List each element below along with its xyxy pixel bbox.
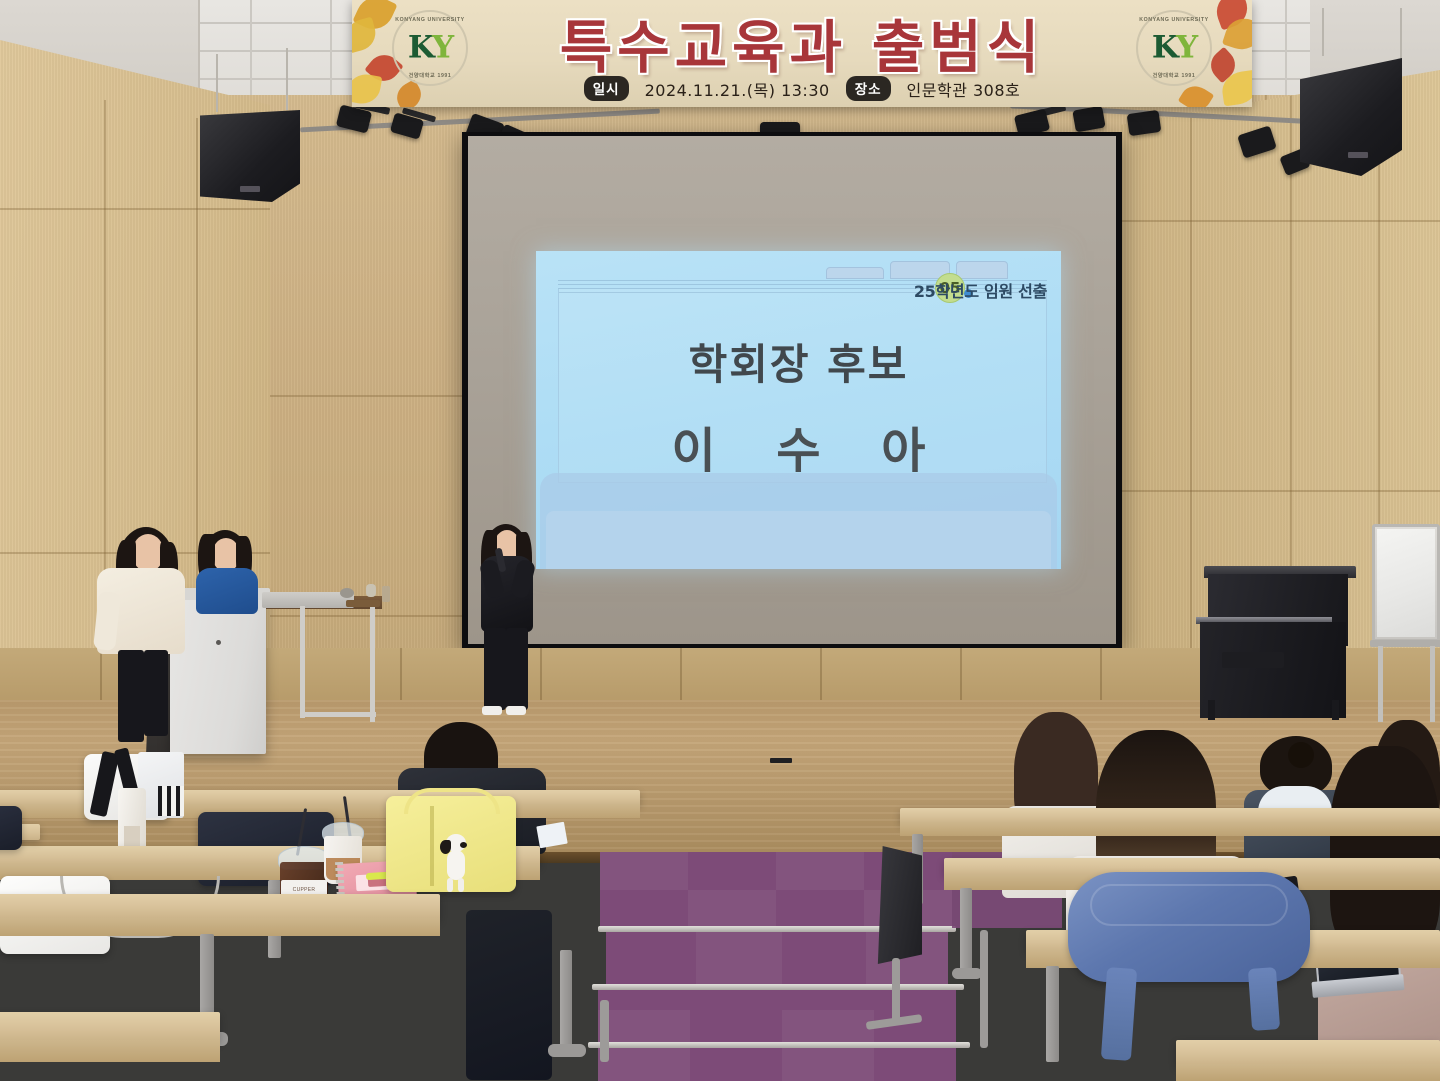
shoe [482, 706, 502, 715]
banner-title: 특수교육과 출범식 [352, 2, 1252, 84]
slide-section-title: 25학년도 임원 선출 [914, 278, 1047, 302]
speaker-badge [1348, 152, 1368, 158]
desk-left-bottom [0, 1012, 220, 1042]
banner-place-value: 인문학관 308호 [907, 77, 1021, 101]
upright-piano [1200, 622, 1346, 718]
stage-floor-socket [770, 758, 792, 763]
side-table-rail [300, 712, 376, 717]
bag-seam [430, 806, 434, 886]
slide-folder-tab [826, 267, 884, 279]
desk-left-front [0, 894, 440, 920]
shoe [506, 706, 526, 715]
aisle-carpet-lower [598, 990, 956, 1081]
stage-light [1127, 110, 1162, 136]
slide-folder-pocket-front [546, 511, 1051, 569]
projection-screen: 05 25학년도 임원 선출 학회장 후보 이 수 아 [462, 132, 1122, 650]
desk-front-panel [1176, 1064, 1440, 1081]
table-item-trophy [382, 586, 390, 602]
speaker-badge [240, 186, 260, 192]
banner-date-value: 2024.11.21.(목) 13:30 [645, 77, 830, 101]
table-item-award [366, 584, 376, 597]
chair-post [600, 1000, 609, 1062]
backpack-strap [1248, 967, 1280, 1031]
leg [506, 628, 528, 710]
banner-place-label: 장소 [846, 76, 891, 101]
leg [118, 650, 144, 742]
piano-bench [1222, 652, 1284, 668]
presentation-slide: 05 25학년도 임원 선출 학회장 후보 이 수 아 [536, 251, 1061, 569]
slide-role-title: 학회장 후보 [536, 331, 1061, 392]
speaker-wire [1400, 8, 1402, 64]
piano-leg [1208, 700, 1215, 720]
desk-leg [560, 950, 572, 1050]
table-item-box [346, 600, 380, 607]
desk-right-bottom [1176, 1040, 1440, 1066]
side-table-leg [300, 606, 305, 718]
bottle-label [124, 826, 140, 846]
slide-candidate-name: 이 수 아 [536, 411, 1061, 481]
podium-button [216, 640, 221, 645]
hair [1330, 746, 1440, 954]
chair-post [980, 930, 988, 1048]
leg [144, 650, 168, 736]
speaker-wire [286, 48, 288, 110]
lower-body [466, 910, 552, 1080]
piano-leg [1332, 700, 1339, 720]
hair-bun-knot [1288, 742, 1314, 768]
leg [484, 628, 506, 710]
desk-leg [1046, 966, 1059, 1062]
bag-handle [404, 788, 500, 814]
speaker-wire [1322, 8, 1324, 56]
backpack-strap [1101, 967, 1137, 1061]
piano-print-pattern [158, 786, 184, 816]
whiteboard-surface [1377, 529, 1435, 637]
speaker-wire [216, 54, 218, 112]
slide-folder-tab [956, 261, 1008, 279]
whiteboard-leg [1378, 646, 1383, 722]
event-banner: KONYANG UNIVERSITY KY 건양대학교 1991 KONYANG… [352, 0, 1252, 107]
side-table-leg [370, 604, 375, 722]
backpack-seam [1090, 884, 1288, 926]
desk-leg [960, 888, 972, 972]
desk-front-panel [0, 1040, 220, 1062]
auditorium-scene: KONYANG UNIVERSITY KY 건양대학교 1991 KONYANG… [0, 0, 1440, 1081]
rolling-whiteboard [1372, 524, 1440, 642]
chair-post [892, 958, 900, 1024]
desk-foot [952, 968, 982, 979]
whiteboard-leg [1430, 646, 1435, 722]
banner-subtitle: 일시 2024.11.21.(목) 13:30 장소 인문학관 308호 [352, 76, 1252, 101]
dark-bag-edge[interactable] [0, 806, 22, 850]
table-item-microphone [340, 588, 354, 598]
projection-screen-surface: 05 25학년도 임원 선출 학회장 후보 이 수 아 [468, 136, 1116, 644]
torso-blue-top [196, 568, 258, 614]
desk-front-panel [0, 918, 440, 936]
desk-front-panel [900, 822, 1440, 836]
step-nosing [588, 1042, 970, 1048]
desk-foot [548, 1044, 586, 1057]
banner-date-label: 일시 [584, 76, 629, 101]
